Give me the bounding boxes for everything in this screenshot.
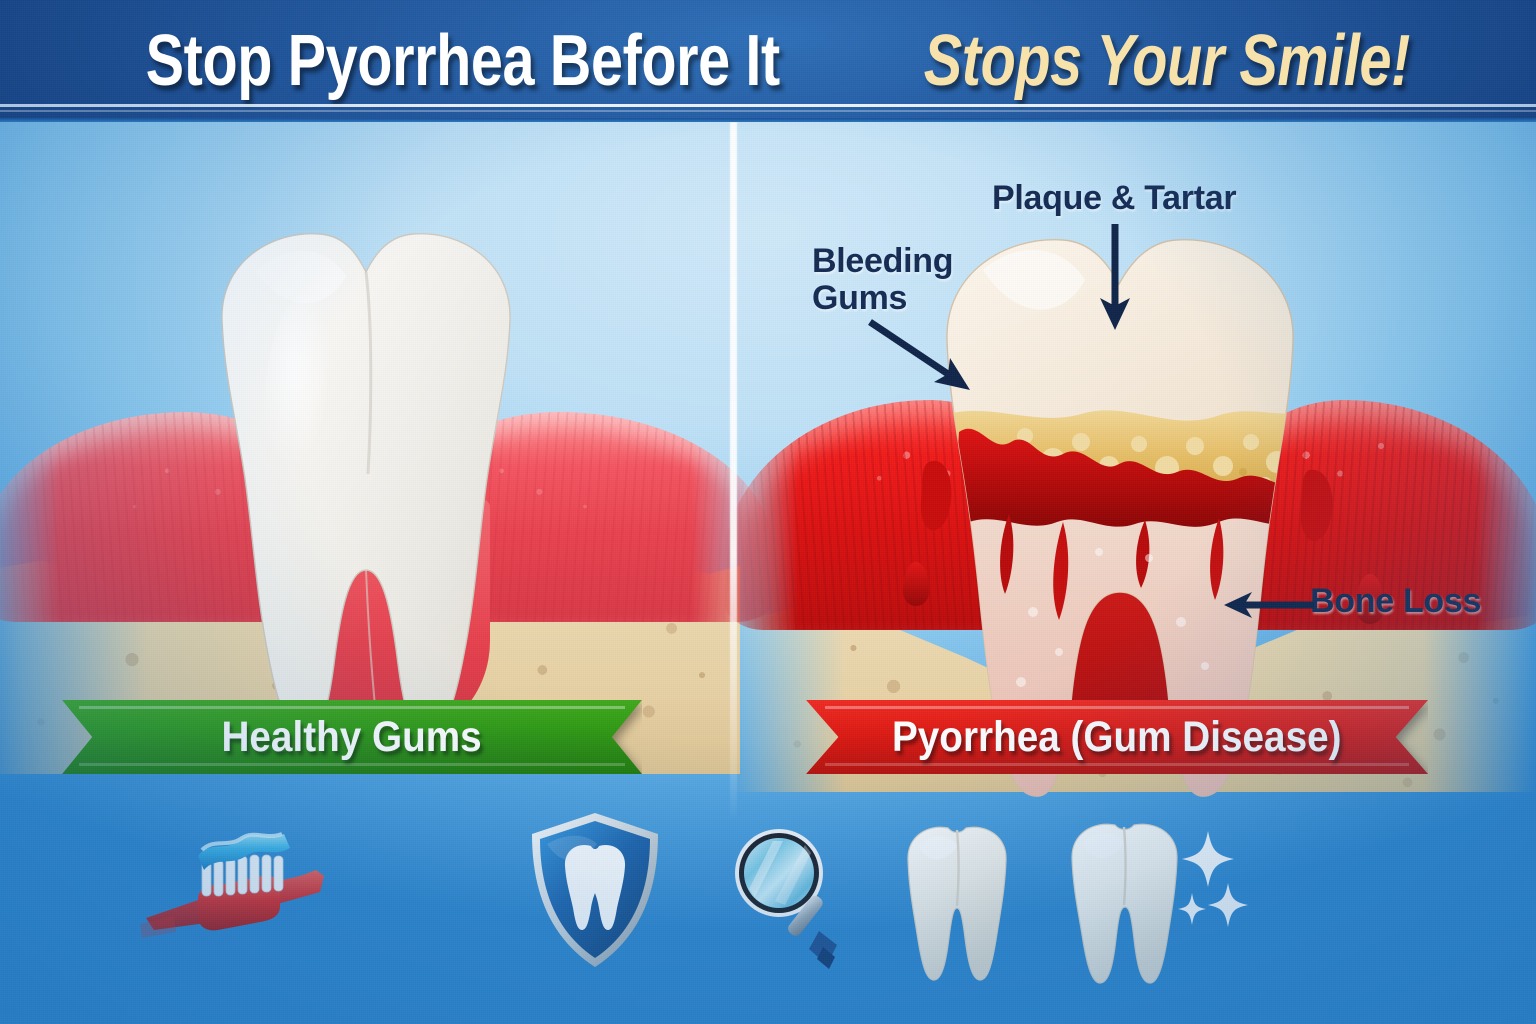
banner-sheen-bottom	[79, 763, 624, 766]
header-divider-line-secondary	[0, 110, 1536, 112]
poster-root: Stop Pyorrhea Before It Stops Your Smile…	[0, 0, 1536, 1024]
shield-tooth-icon	[527, 810, 663, 970]
healthy-tooth	[196, 224, 536, 764]
annotation-plaque-tartar: Plaque & Tartar	[992, 180, 1236, 217]
annotation-bleeding-gums: Bleeding Gums	[812, 243, 953, 316]
healthy-gums-banner: Healthy Gums	[62, 700, 642, 774]
annotation-bone-loss: Bone Loss	[1310, 583, 1481, 620]
diagonal-arrow-icon	[866, 318, 978, 400]
pyorrhea-label: Pyorrhea (Gum Disease)	[892, 713, 1342, 762]
panel-divider	[730, 122, 737, 822]
healthy-gums-label: Healthy Gums	[222, 713, 482, 762]
header-divider-line	[0, 104, 1536, 107]
title-accent-text: Stops Your Smile!	[923, 25, 1409, 97]
banner-sheen-top	[79, 706, 624, 709]
sparkling-tooth-icon	[1060, 817, 1250, 992]
illustration-area: Healthy Gums Pyorrhea (Gum Disease) Plaq…	[0, 122, 1536, 1024]
toothbrush-icon	[140, 812, 390, 962]
tooth-icon	[898, 822, 1016, 986]
header-banner: Stop Pyorrhea Before It Stops Your Smile…	[0, 0, 1536, 122]
title-primary-text: Stop Pyorrhea Before It	[146, 25, 783, 97]
left-arrow-icon	[1222, 588, 1318, 622]
banner-sheen-bottom	[825, 763, 1410, 766]
down-arrow-icon	[1098, 222, 1132, 334]
pyorrhea-banner: Pyorrhea (Gum Disease)	[806, 700, 1428, 774]
banner-sheen-top	[825, 706, 1410, 709]
dental-mirror-icon	[733, 827, 873, 977]
